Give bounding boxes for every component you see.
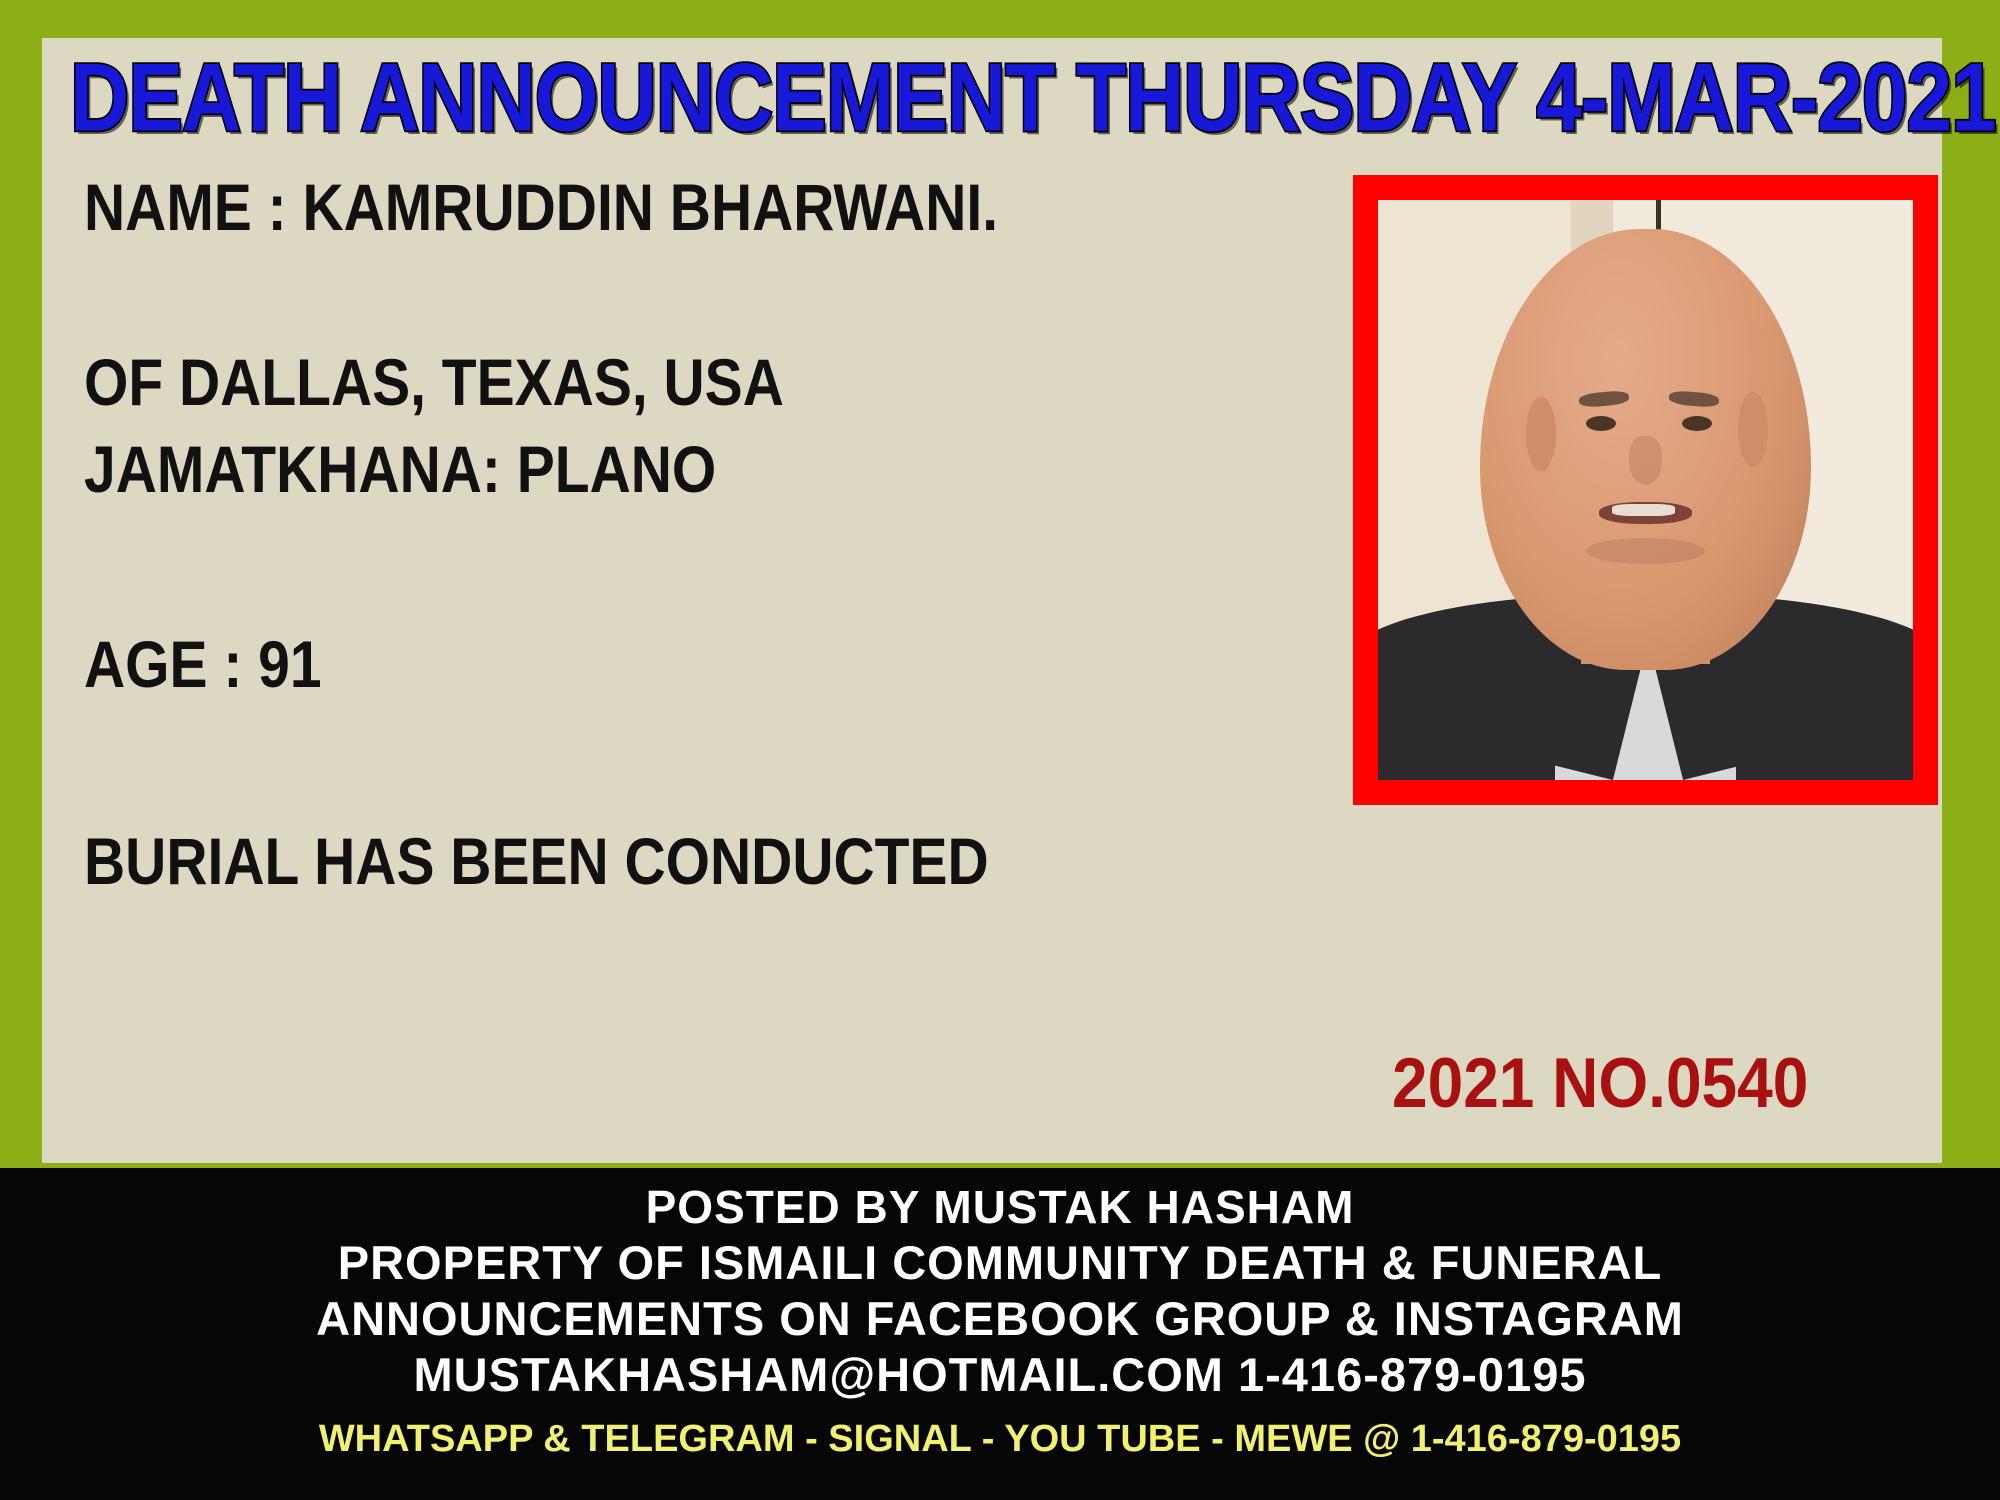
burial-status-line: BURIAL HAS BEEN CONDUCTED: [84, 830, 1264, 896]
announcement-details: NAME : KAMRUDDIN BHARWANI. OF DALLAS, TE…: [84, 176, 1264, 887]
spacer: [84, 495, 1264, 633]
eye-right: [1682, 416, 1712, 431]
footer-announcements-line: ANNOUNCEMENTS ON FACEBOOK GROUP & INSTAG…: [0, 1286, 2000, 1342]
teeth: [1612, 504, 1675, 515]
portrait-photo-frame: [1353, 175, 1938, 805]
footer-property-line: PROPERTY OF ISMAILI COMMUNITY DEATH & FU…: [0, 1230, 2000, 1286]
nose: [1629, 436, 1662, 484]
ear-left: [1526, 397, 1556, 472]
footer-credits: POSTED BY MUSTAK HASHAM PROPERTY OF ISMA…: [0, 1168, 2000, 1500]
deceased-name-line: NAME : KAMRUDDIN BHARWANI.: [84, 176, 1264, 242]
age-line: AGE : 91: [84, 633, 1264, 699]
spacer: [84, 233, 1264, 351]
chin-shadow: [1586, 538, 1705, 564]
ear-right: [1738, 392, 1768, 467]
eyebrow-right: [1668, 390, 1719, 408]
footer-social-line: WHATSAPP & TELEGRAM - SIGNAL - YOU TUBE …: [0, 1398, 2000, 1458]
portrait-photo: [1378, 200, 1913, 780]
death-announcement-poster: DEATH ANNOUNCEMENT THURSDAY 4-MAR-2021 N…: [0, 0, 2000, 1500]
reference-number: 2021 NO.0540: [1392, 1042, 1808, 1123]
footer-contact-line: MUSTAKHASHAM@HOTMAIL.COM 1-416-879-0195: [0, 1342, 2000, 1398]
location-line: OF DALLAS, TEXAS, USA: [84, 351, 1264, 417]
footer-posted-by: POSTED BY MUSTAK HASHAM: [0, 1168, 2000, 1230]
spacer: [84, 690, 1264, 830]
jamatkhana-line: JAMATKHANA: PLANO: [84, 438, 1264, 504]
eyebrow-left: [1579, 390, 1630, 408]
eye-left: [1586, 416, 1616, 431]
page-title: DEATH ANNOUNCEMENT THURSDAY 4-MAR-2021: [70, 48, 1910, 150]
head: [1480, 229, 1812, 670]
